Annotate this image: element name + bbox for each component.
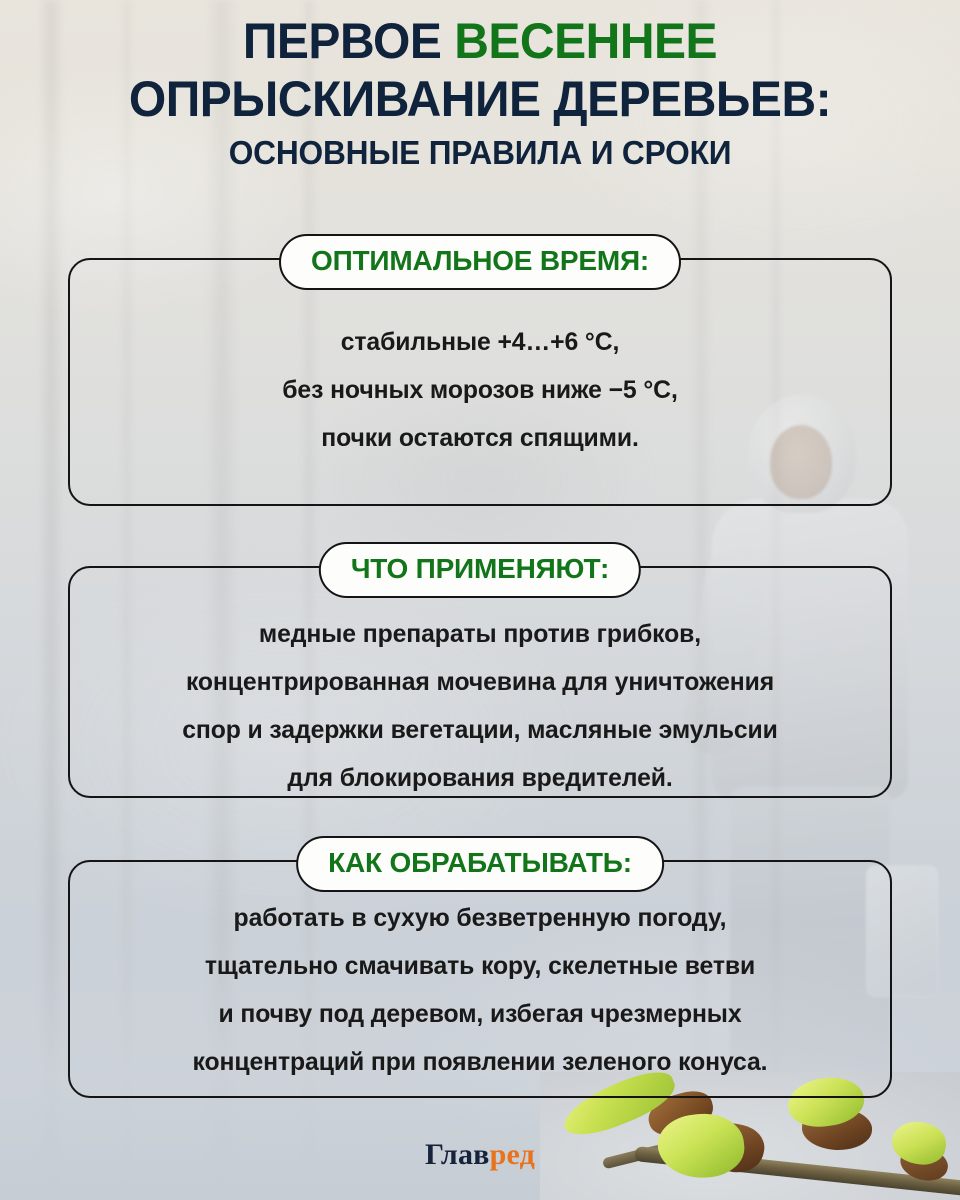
card-1-line-2: без ночных морозов ниже −5 °C,	[100, 366, 860, 414]
card-2-body: медные препараты против грибков, концент…	[70, 568, 890, 802]
card-1-line-3: почки остаются спящими.	[100, 414, 860, 462]
card-3-body: работать в сухую безветренную погоду, тщ…	[70, 862, 890, 1086]
card-2-pill-heading: ЧТО ПРИМЕНЯЮТ:	[319, 542, 641, 598]
headline-subtitle: ОСНОВНЫЕ ПРАВИЛА И СРОКИ	[19, 136, 941, 169]
logo-text-accent: ред	[490, 1138, 535, 1171]
card-3-line-2: тщательно смачивать кору, скелетные ветв…	[100, 942, 860, 990]
headline-line-1-plain: ПЕРВОЕ	[243, 13, 454, 69]
headline-line-1: ПЕРВОЕ ВЕСЕННЕЕ	[19, 16, 941, 66]
card-1-pill-heading: ОПТИМАЛЬНОЕ ВРЕМЯ:	[279, 234, 681, 290]
headline-line-2: ОПРЫСКИВАНИЕ ДЕРЕВЬЕВ:	[19, 74, 941, 124]
card-3-line-4: концентраций при появлении зеленого кону…	[100, 1038, 860, 1086]
card-2-line-2: концентрированная мочевина для уничтожен…	[100, 658, 860, 706]
glavred-logo[interactable]: Главред	[0, 1138, 960, 1172]
headline-line-1-accent: ВЕСЕННЕЕ	[454, 13, 717, 69]
poster-headline: ПЕРВОЕ ВЕСЕННЕЕ ОПРЫСКИВАНИЕ ДЕРЕВЬЕВ: О…	[0, 16, 960, 169]
card-3-line-3: и почву под деревом, избегая чрезмерных	[100, 990, 860, 1038]
card-2-line-1: медные препараты против грибков,	[100, 610, 860, 658]
card-how-to-treat: КАК ОБРАБАТЫВАТЬ: работать в сухую безве…	[68, 860, 892, 1098]
card-3-line-1: работать в сухую безветренную погоду,	[100, 894, 860, 942]
card-what-to-use: ЧТО ПРИМЕНЯЮТ: медные препараты против г…	[68, 566, 892, 798]
card-2-line-3: спор и задержки вегетации, масляные эмул…	[100, 706, 860, 754]
card-optimal-time: ОПТИМАЛЬНОЕ ВРЕМЯ: стабильные +4…+6 °C, …	[68, 258, 892, 506]
card-1-line-1: стабильные +4…+6 °C,	[100, 318, 860, 366]
card-1-body: стабильные +4…+6 °C, без ночных морозов …	[70, 260, 890, 462]
infographic-poster: ПЕРВОЕ ВЕСЕННЕЕ ОПРЫСКИВАНИЕ ДЕРЕВЬЕВ: О…	[0, 0, 960, 1200]
logo-text-primary: Глав	[425, 1138, 490, 1171]
card-3-pill-heading: КАК ОБРАБАТЫВАТЬ:	[296, 836, 664, 892]
card-2-line-4: для блокирования вредителей.	[100, 754, 860, 802]
